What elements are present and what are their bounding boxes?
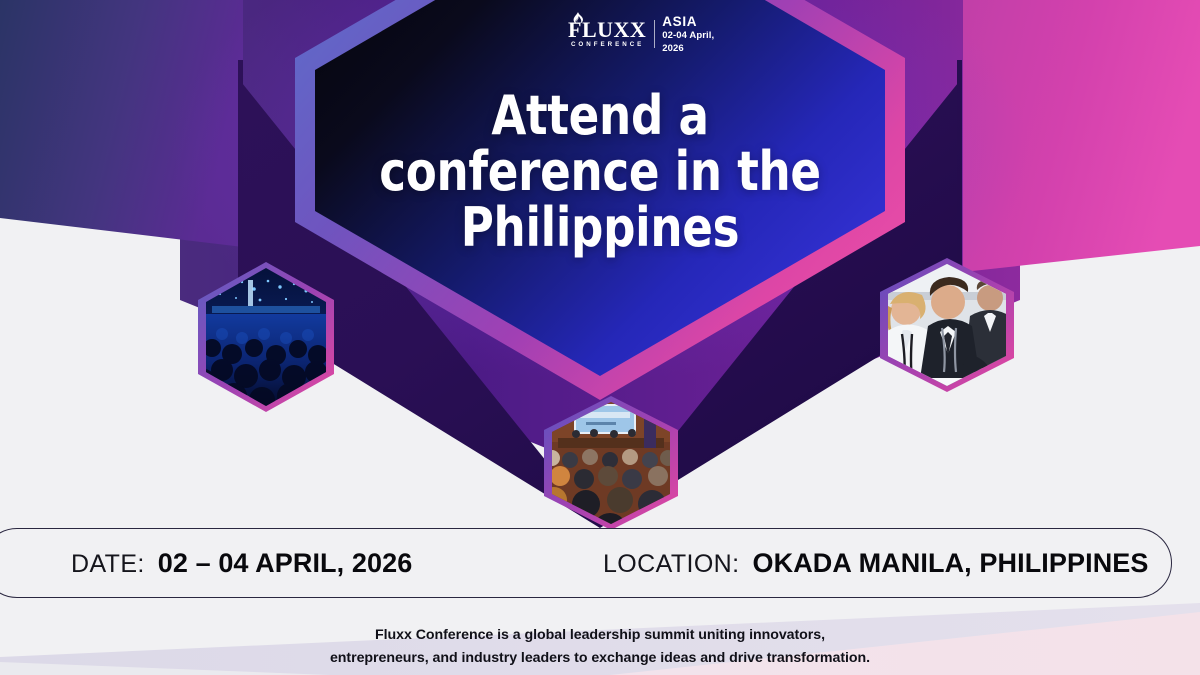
location-value: OKADA MANILA, PHILIPPINES	[753, 548, 1149, 579]
logo-edition-group: ASIA 02-04 April, 2026	[662, 14, 731, 55]
photo-crowd-audience-blue-lights	[190, 262, 342, 412]
photo-conference-hall-audience	[536, 396, 686, 530]
description-line-1: Fluxx Conference is a global leadership …	[0, 624, 1200, 647]
poster-canvas: FLUXX CONFERENCE ASIA 02-04 April, 2026 …	[0, 0, 1200, 675]
event-info-bar: DATE: 02 – 04 APRIL, 2026 LOCATION: OKAD…	[0, 528, 1172, 598]
date-value: 02 – 04 APRIL, 2026	[158, 548, 413, 579]
logo-dates: 02-04 April, 2026	[662, 29, 731, 55]
event-description: Fluxx Conference is a global leadership …	[0, 624, 1200, 670]
description-line-2: entrepreneurs, and industry leaders to e…	[0, 647, 1200, 670]
date-label: DATE:	[71, 550, 145, 579]
logo-region: ASIA	[662, 14, 731, 29]
logo-tagline: CONFERENCE	[563, 41, 644, 49]
date-group: DATE: 02 – 04 APRIL, 2026	[71, 548, 412, 579]
location-group: LOCATION: OKADA MANILA, PHILIPPINES	[603, 548, 1149, 579]
brand-logo: FLUXX CONFERENCE ASIA 02-04 April, 2026	[561, 12, 731, 56]
headline-line-1: Attend a	[42, 88, 1158, 144]
photo-business-attendees-taking-notes	[872, 258, 1022, 392]
headline-line-3: Philippines	[42, 200, 1158, 256]
logo-wordmark-group: FLUXX CONFERENCE	[561, 20, 646, 49]
flame-torch-icon	[567, 11, 589, 33]
location-label: LOCATION:	[603, 550, 740, 579]
headline-line-2: conference in the	[42, 144, 1158, 200]
page-title: Attend a conference in the Philippines	[42, 88, 1158, 256]
logo-divider	[654, 20, 655, 48]
